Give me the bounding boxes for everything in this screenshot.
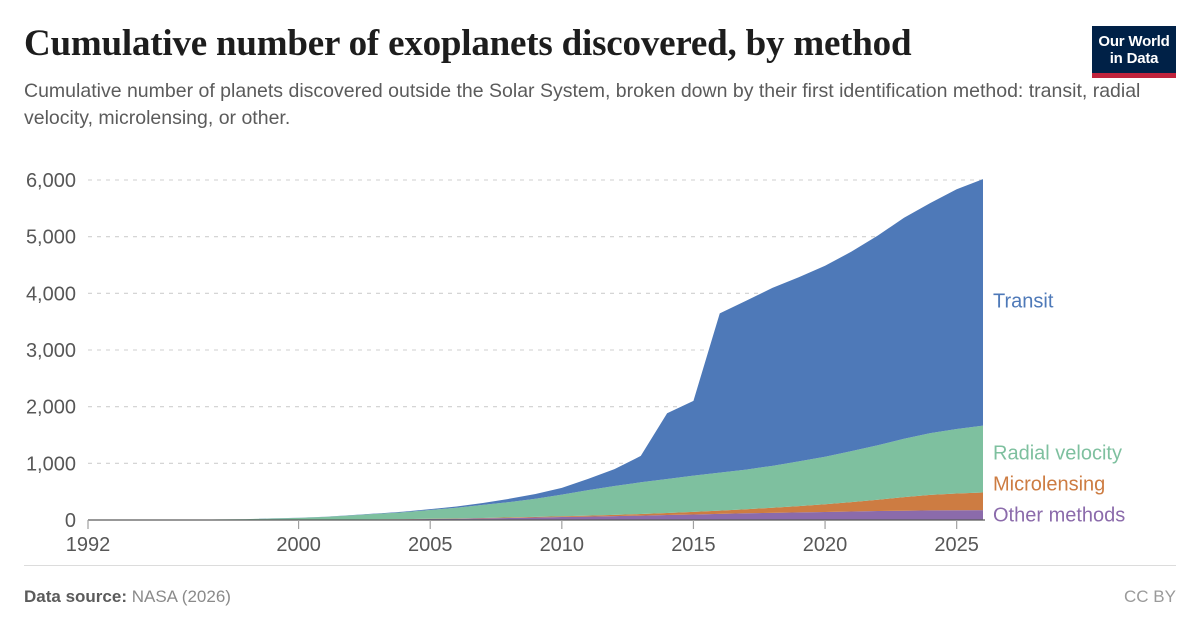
y-tick-label-4000: 4,000: [26, 283, 76, 305]
x-tick-label-2000: 2000: [276, 534, 321, 556]
x-tick-label-2015: 2015: [671, 534, 716, 556]
x-tick-label-1992: 1992: [66, 534, 111, 556]
stacked-area-chart[interactable]: 01,0002,0003,0004,0005,0006,000 19922000…: [0, 150, 1200, 560]
series-labels-group[interactable]: TransitRadial velocityMicrolensingOther …: [993, 291, 1125, 527]
x-tick-label-2010: 2010: [540, 534, 585, 556]
x-tick-label-2005: 2005: [408, 534, 453, 556]
area-series-group[interactable]: [88, 179, 983, 520]
axis-group: [88, 520, 985, 529]
license-label[interactable]: CC BY: [1124, 587, 1176, 607]
y-tick-label-3000: 3,000: [26, 340, 76, 362]
data-source-value: NASA (2026): [132, 587, 231, 606]
logo-line-1: Our World: [1098, 33, 1169, 50]
data-source: Data source: NASA (2026): [24, 587, 231, 607]
y-tick-label-2000: 2,000: [26, 397, 76, 419]
x-tick-label-2020: 2020: [803, 534, 848, 556]
chart-subtitle: Cumulative number of planets discovered …: [24, 78, 1164, 132]
chart-header: Cumulative number of exoplanets discover…: [24, 16, 1176, 146]
y-tick-label-1000: 1,000: [26, 453, 76, 475]
series-label-microlensing[interactable]: Microlensing: [993, 473, 1105, 495]
y-tick-label-0: 0: [65, 510, 76, 532]
x-tick-label-2025: 2025: [934, 534, 979, 556]
y-axis-tick-labels: 01,0002,0003,0004,0005,0006,000: [26, 170, 76, 532]
series-label-other-methods[interactable]: Other methods: [993, 504, 1125, 526]
y-tick-label-6000: 6,000: [26, 170, 76, 192]
data-source-label: Data source:: [24, 587, 127, 606]
series-label-radial-velocity[interactable]: Radial velocity: [993, 442, 1122, 464]
page-title: Cumulative number of exoplanets discover…: [24, 16, 1054, 66]
y-tick-label-5000: 5,000: [26, 227, 76, 249]
x-axis-tick-labels: 1992200020052010201520202025: [66, 534, 979, 556]
logo-line-2: in Data: [1110, 50, 1159, 67]
our-world-in-data-logo[interactable]: Our World in Data: [1092, 26, 1176, 78]
series-label-transit[interactable]: Transit: [993, 291, 1054, 313]
chart-footer: Data source: NASA (2026) CC BY: [24, 565, 1176, 627]
chart-canvas[interactable]: 01,0002,0003,0004,0005,0006,000 19922000…: [0, 150, 1200, 560]
